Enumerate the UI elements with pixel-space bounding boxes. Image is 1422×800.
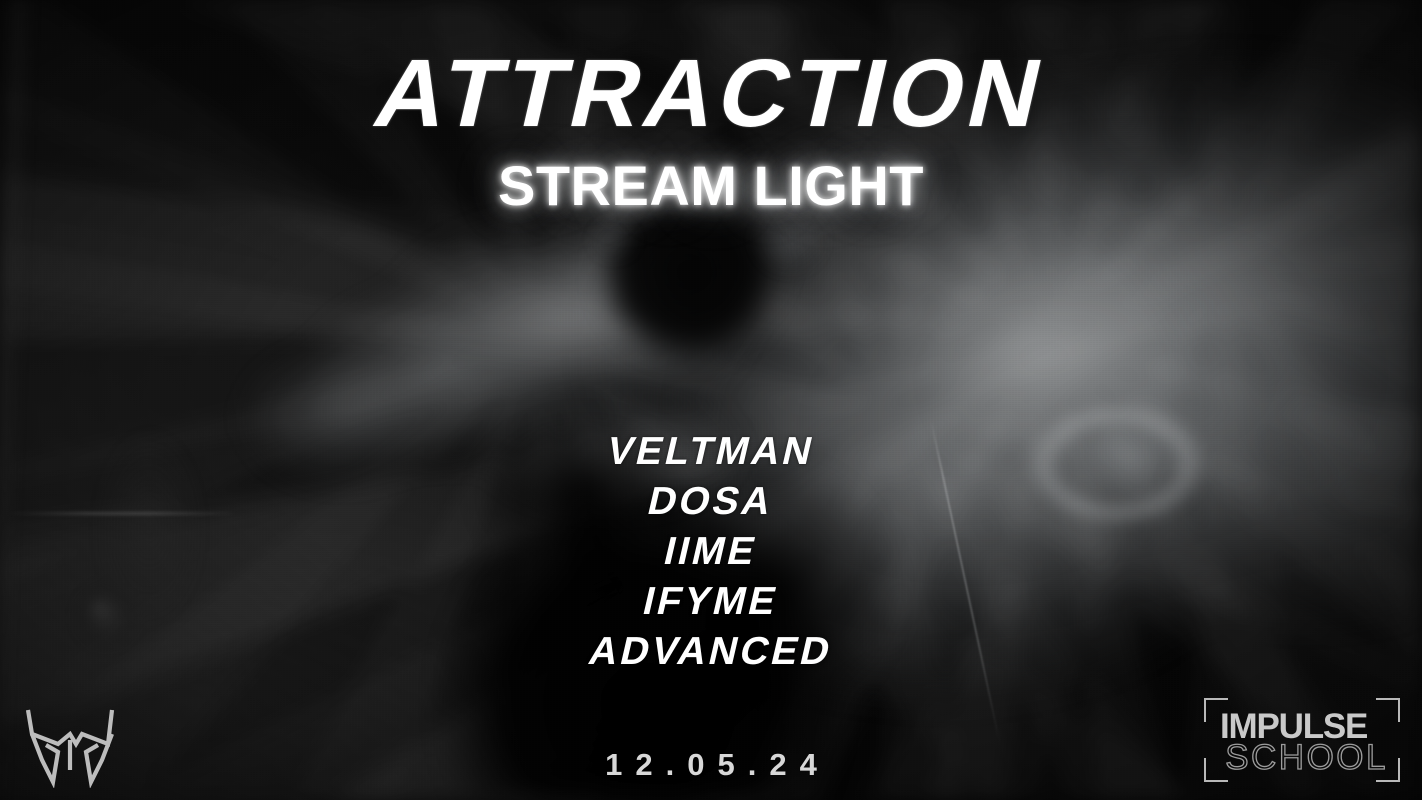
logo-school-text: SCHOOL	[1220, 740, 1390, 776]
brand-emblem-icon	[22, 700, 130, 788]
lineup-item: VELTMAN	[0, 432, 1422, 471]
school-wordmark: IMPULSE SCHOOL	[1220, 710, 1390, 776]
impulse-school-logo: IMPULSE SCHOOL	[1204, 698, 1400, 782]
artist-lineup: VELTMAN DOSA IIME IFYME ADVANCED	[0, 432, 1422, 671]
lineup-item: IFYME	[0, 582, 1422, 621]
event-poster: ATTRACTION STREAM LIGHT VELTMAN DOSA IIM…	[0, 0, 1422, 800]
poster-content: ATTRACTION STREAM LIGHT VELTMAN DOSA IIM…	[0, 0, 1422, 800]
lineup-item: ADVANCED	[0, 632, 1422, 671]
lineup-item: DOSA	[0, 482, 1422, 521]
lineup-item: IIME	[0, 532, 1422, 571]
event-title: ATTRACTION	[0, 46, 1422, 142]
event-subtitle: STREAM LIGHT	[0, 158, 1422, 214]
